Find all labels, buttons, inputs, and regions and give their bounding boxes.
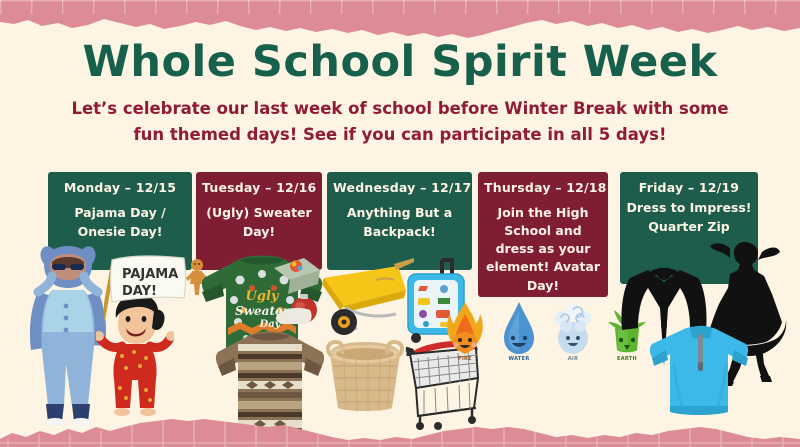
page-subtitle: Let’s celebrate our last week of school … <box>62 96 738 147</box>
page-title: Whole School Spirit Week <box>0 40 800 85</box>
quarter-zip-sweater-image <box>648 324 752 420</box>
day-card-theme: (Ugly) Sweater Day! <box>202 204 316 242</box>
element-label: EARTH <box>606 356 648 362</box>
shopping-cart-image <box>398 330 484 430</box>
element-label: WATER <box>498 356 540 362</box>
day-card-date: Monday – 12/15 <box>54 180 186 195</box>
element-mascots-row: FIRE WATER <box>476 300 616 362</box>
element-label: AIR <box>552 356 594 362</box>
element-label: FIRE <box>444 356 486 362</box>
wicker-basket-image <box>324 336 406 414</box>
day-card-date: Tuesday – 12/16 <box>202 180 316 195</box>
element-earth: EARTH <box>606 300 648 362</box>
day-card-thursday[interactable]: Thursday – 12/18 Join the High School an… <box>478 172 608 297</box>
element-air: AIR <box>552 300 594 362</box>
water-drop-icon <box>498 300 540 356</box>
top-paper-band <box>0 0 800 42</box>
day-card-theme: Join the High School and dress as your e… <box>484 204 602 295</box>
bottom-paper-band <box>0 413 800 447</box>
earth-leaf-icon <box>606 300 648 356</box>
day-cards-row: Monday – 12/15 Pajama Day / Onesie Day! … <box>0 172 800 292</box>
svg-text:Sweater: Sweater <box>235 304 291 318</box>
svg-text:Day: Day <box>259 319 282 330</box>
day-card-date: Friday – 12/19 <box>626 180 752 195</box>
pajama-kid-image <box>96 288 174 416</box>
day-card-theme: Pajama Day / Onesie Day! <box>54 204 186 242</box>
day-card-friday[interactable]: Friday – 12/19 Dress to Impress! Quarter… <box>620 172 758 284</box>
bottom-torn-edge <box>0 413 800 447</box>
element-water: WATER <box>498 300 540 362</box>
element-fire: FIRE <box>444 300 486 362</box>
day-card-date: Wednesday – 12/17 <box>333 180 466 195</box>
day-card-date: Thursday – 12/18 <box>484 180 602 195</box>
air-swirl-icon <box>552 300 594 356</box>
day-card-wednesday[interactable]: Wednesday – 12/17 Anything But a Backpac… <box>327 172 472 270</box>
fairisle-sweater-image <box>212 330 328 442</box>
day-card-theme: Anything But a Backpack! <box>333 204 466 242</box>
fire-icon <box>444 300 486 356</box>
spirit-week-poster: Whole School Spirit Week Let’s celebrate… <box>0 0 800 447</box>
day-card-monday[interactable]: Monday – 12/15 Pajama Day / Onesie Day! <box>48 172 192 270</box>
day-card-tuesday[interactable]: Tuesday – 12/16 (Ugly) Sweater Day! <box>196 172 322 270</box>
day-card-theme: Dress to Impress! Quarter Zip <box>626 199 752 237</box>
